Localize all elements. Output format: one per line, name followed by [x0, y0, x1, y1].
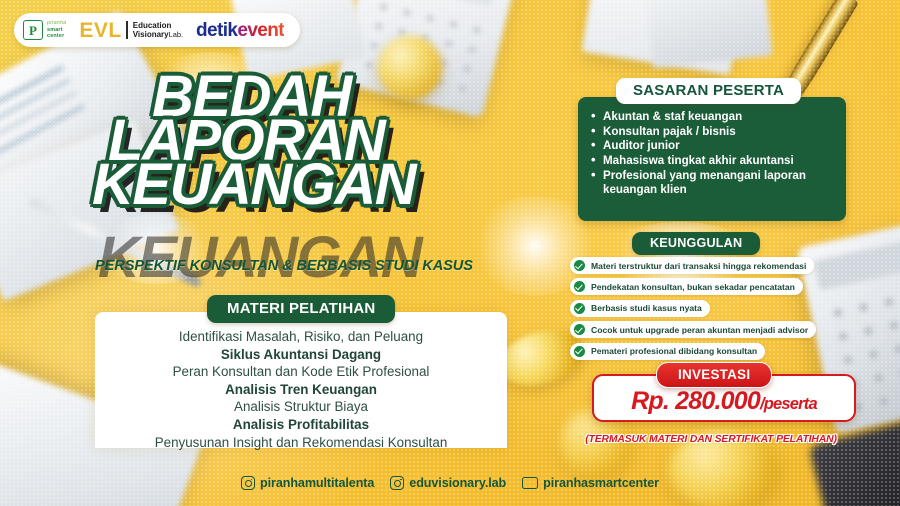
- evl-logo-line2-wrap: VisionaryLab.: [133, 30, 183, 39]
- check-circle-icon: [574, 260, 585, 271]
- investasi-note: (TERMASUK MATERI DAN SERTIFIKAT PELATIHA…: [566, 434, 856, 445]
- sasaran-list: Akuntan & staf keuanganKonsultan pajak /…: [590, 110, 840, 198]
- detikevent-logo-part1: detik: [196, 20, 237, 41]
- keunggulan-list: Materi terstruktur dari transaksi hingga…: [570, 257, 860, 364]
- piranha-smart-center-logo: P piranha smart center: [23, 20, 66, 40]
- detikevent-logo: detikevent: [196, 21, 284, 40]
- evl-abbreviation: EVL: [79, 20, 121, 41]
- materi-item: Siklus Akuntansi Dagang: [95, 346, 507, 364]
- footer-handle-label: piranhasmartcenter: [543, 476, 659, 490]
- evl-logo-subtext: Education VisionaryLab.: [126, 21, 183, 39]
- piranha-logo-text: piranha smart center: [47, 20, 66, 39]
- materi-item: Analisis Profitabilitas: [95, 416, 507, 434]
- piranha-logo-line3: center: [47, 33, 66, 39]
- sasaran-item: Akuntan & staf keuangan: [590, 110, 840, 124]
- headline-subtitle: PERSPEKTIF KONSULTAN & BERBASIS STUDI KA…: [95, 258, 525, 274]
- investasi-amount: 280.000: [675, 387, 760, 415]
- check-circle-icon: [574, 324, 585, 335]
- materi-item: Analisis Tren Keuangan: [95, 381, 507, 399]
- footer-social-bar: piranhamultitalentaeduvisionary.labpiran…: [0, 476, 900, 490]
- sasaran-item: Konsultan pajak / bisnis: [590, 125, 840, 139]
- investasi-currency: Rp.: [631, 387, 669, 415]
- materi-item: Analisis Struktur Biaya: [95, 398, 507, 416]
- footer-handle-2[interactable]: eduvisionary.lab: [390, 476, 506, 490]
- materi-item: Identifikasi Masalah, Risiko, dan Peluan…: [95, 328, 507, 346]
- sasaran-item: Profesional yang menangani laporan keuan…: [590, 169, 840, 197]
- footer-handle-label: eduvisionary.lab: [409, 476, 506, 490]
- keunggulan-item-label: Pemateri profesional dibidang konsultan: [591, 346, 757, 356]
- sasaran-badge: SASARAN PESERTA: [616, 78, 801, 104]
- keunggulan-item-label: Pendekatan konsultan, bukan sekadar penc…: [591, 282, 795, 292]
- logo-bar: P piranha smart center EVL Education Vis…: [14, 13, 300, 47]
- materi-item: Peran Konsultan dan Kode Etik Profesiona…: [95, 363, 507, 381]
- footer-handle-3[interactable]: piranhasmartcenter: [522, 476, 659, 490]
- instagram-icon: [241, 476, 255, 490]
- materi-badge: MATERI PELATIHAN: [207, 295, 395, 323]
- investasi-badge: INVESTASI: [656, 362, 772, 388]
- materi-item: Penyusunan Insight dan Rekomendasi Konsu…: [95, 434, 507, 452]
- footer-handle-label: piranhamultitalenta: [260, 476, 374, 490]
- keunggulan-item-label: Cocok untuk upgrade peran akuntan menjad…: [591, 325, 808, 335]
- keunggulan-badge: KEUNGGULAN: [632, 232, 760, 255]
- materi-list: Identifikasi Masalah, Risiko, dan Peluan…: [95, 328, 507, 451]
- keunggulan-item-label: Materi terstruktur dari transaksi hingga…: [591, 261, 806, 271]
- keunggulan-item: Materi terstruktur dari transaksi hingga…: [570, 257, 814, 274]
- keunggulan-item: Berbasis studi kasus nyata: [570, 300, 710, 317]
- sasaran-item: Auditor junior: [590, 139, 840, 153]
- piranha-mark-icon: P: [23, 20, 43, 40]
- check-circle-icon: [574, 303, 585, 314]
- piranha-logo-line1: piranha: [47, 20, 66, 26]
- investasi-unit: /peserta: [760, 395, 817, 413]
- keunggulan-item-label: Berbasis studi kasus nyata: [591, 303, 702, 313]
- evl-logo-line1: Education: [133, 21, 183, 30]
- evl-logo-line2: Visionary: [133, 30, 169, 39]
- footer-handle-1[interactable]: piranhamultitalenta: [241, 476, 374, 490]
- evl-logo-line3: Lab.: [169, 30, 183, 39]
- instagram-icon: [390, 476, 404, 490]
- check-circle-icon: [574, 281, 585, 292]
- check-circle-icon: [574, 346, 585, 357]
- promo-poster: P piranha smart center EVL Education Vis…: [0, 0, 900, 506]
- keunggulan-item: Pendekatan konsultan, bukan sekadar penc…: [570, 278, 803, 295]
- keunggulan-item: Pemateri profesional dibidang konsultan: [570, 343, 765, 360]
- detikevent-logo-part2: event: [237, 20, 284, 41]
- evl-logo: EVL Education VisionaryLab.: [79, 20, 183, 41]
- headline-line-3: KEUANGAN: [92, 160, 522, 210]
- mail-icon: [522, 477, 538, 489]
- keunggulan-item: Cocok untuk upgrade peran akuntan menjad…: [570, 321, 816, 338]
- sasaran-item: Mahasiswa tingkat akhir akuntansi: [590, 154, 840, 168]
- headline-block: KEUANGAN BEDAH LAPORAN KEUANGAN: [92, 72, 522, 210]
